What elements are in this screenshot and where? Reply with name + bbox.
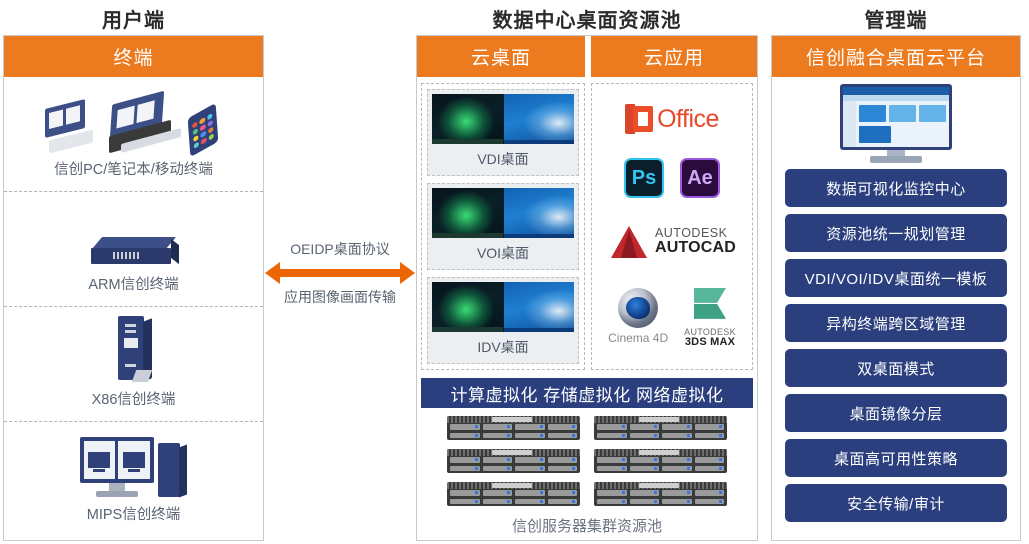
- management-panel: 信创融合桌面云平台 数据可视化监控中心 资源池统一规划管理 VDI/VOI/ID…: [771, 35, 1021, 541]
- mid-column-title: 数据中心桌面资源池: [416, 4, 758, 33]
- desktop-card-voi[interactable]: VOI桌面: [427, 183, 579, 270]
- desktop-card-label: IDV桌面: [432, 332, 574, 359]
- 3dsmax-icon[interactable]: AUTODESK 3DS MAX: [684, 285, 736, 349]
- desktop-card-label: VDI桌面: [432, 144, 574, 171]
- virtualization-banner: 计算虚拟化 存储虚拟化 网络虚拟化: [421, 378, 753, 408]
- app-row-office: Office: [625, 104, 719, 134]
- server-unit: [594, 416, 727, 440]
- terminal-label: 信创PC/笔记本/移动终端: [54, 158, 213, 179]
- desktop-thumbnail: [432, 282, 574, 332]
- tower-icon: [158, 443, 188, 499]
- desktop-thumbnail: [432, 188, 574, 238]
- server-unit: [594, 482, 727, 506]
- slim-tower-icon: [112, 314, 156, 384]
- mini-pc-icon: [91, 235, 177, 269]
- mgmt-button-4[interactable]: 双桌面模式: [785, 349, 1007, 387]
- cloud-desktop-list: VDI桌面 VOI桌面 IDV桌面: [421, 83, 585, 370]
- terminal-item-x86[interactable]: X86信创终端: [4, 307, 263, 422]
- cinema4d-label: Cinema 4D: [608, 331, 668, 345]
- cloud-app-header: 云应用: [591, 36, 757, 77]
- office-icon[interactable]: Office: [625, 104, 719, 134]
- desktop-thumbnail: [432, 94, 574, 144]
- office-label: Office: [657, 105, 719, 134]
- server-unit: [447, 482, 580, 506]
- terminal-panel-header: 终端: [4, 36, 263, 77]
- server-grid: [421, 416, 753, 506]
- desktop-icon: [41, 102, 97, 154]
- right-column-title: 管理端: [771, 4, 1021, 33]
- mgmt-button-0[interactable]: 数据可视化监控中心: [785, 169, 1007, 207]
- autocad-icon[interactable]: AUTODESK AUTOCAD: [608, 223, 736, 261]
- server-pool: 信创服务器集群资源池: [417, 408, 757, 536]
- mgmt-button-1[interactable]: 资源池统一规划管理: [785, 214, 1007, 252]
- x86-icon-group: [112, 320, 156, 384]
- mgmt-button-2[interactable]: VDI/VOI/IDV桌面统一模板: [785, 259, 1007, 297]
- terminal-item-arm[interactable]: ARM信创终端: [4, 192, 263, 307]
- monitor-icon: [80, 437, 154, 499]
- cloud-app-list: Office Ps Ae AUTODESK AUTOCAD: [591, 83, 753, 370]
- arm-icon-group: [91, 205, 177, 269]
- desktop-card-idv[interactable]: IDV桌面: [427, 277, 579, 364]
- laptop-icon: [103, 98, 179, 154]
- terminal-item-pc[interactable]: 信创PC/笔记本/移动终端: [4, 77, 263, 192]
- server-unit: [447, 449, 580, 473]
- protocol-bottom-label: 应用图像画面传输: [284, 287, 396, 307]
- protocol-top-label: OEIDP桌面协议: [290, 239, 390, 259]
- terminal-label: ARM信创终端: [88, 273, 178, 294]
- server-unit: [594, 449, 727, 473]
- mgmt-button-7[interactable]: 安全传输/审计: [785, 484, 1007, 522]
- server-pool-label: 信创服务器集群资源池: [421, 515, 753, 536]
- phone-icon: [185, 104, 227, 154]
- autocad-brand: AUTODESK: [655, 227, 736, 240]
- protocol-connector: OEIDP桌面协议 应用图像画面传输: [264, 225, 416, 320]
- terminal-label: MIPS信创终端: [87, 503, 180, 524]
- left-column-title: 用户端: [3, 4, 264, 33]
- app-row-autocad: AUTODESK AUTOCAD: [608, 223, 736, 261]
- mips-icon-group: [80, 435, 188, 499]
- 3dsmax-product: 3DS MAX: [684, 337, 736, 349]
- cloud-desktop-header: 云桌面: [417, 36, 585, 77]
- after-effects-icon[interactable]: Ae: [680, 158, 720, 198]
- photoshop-icon[interactable]: Ps: [624, 158, 664, 198]
- management-panel-header: 信创融合桌面云平台: [772, 36, 1020, 77]
- autocad-product: AUTOCAD: [655, 240, 736, 257]
- mgmt-button-5[interactable]: 桌面镜像分层: [785, 394, 1007, 432]
- dashboard-monitor-icon: [840, 84, 952, 164]
- mgmt-button-6[interactable]: 桌面高可用性策略: [785, 439, 1007, 477]
- double-arrow-icon: [265, 262, 415, 284]
- resource-pool-panel: 云桌面 云应用 VDI桌面 VOI桌面 IDV桌面 Office: [416, 35, 758, 541]
- app-row-3d: Cinema 4D AUTODESK 3DS MAX: [608, 285, 736, 349]
- app-row-adobe: Ps Ae: [624, 158, 720, 198]
- desktop-card-label: VOI桌面: [432, 238, 574, 265]
- terminal-item-mips[interactable]: MIPS信创终端: [4, 422, 263, 537]
- desktop-card-vdi[interactable]: VDI桌面: [427, 89, 579, 176]
- terminal-panel: 终端 信创PC/笔记本/移动终端: [3, 35, 264, 541]
- terminal-label: X86信创终端: [92, 388, 176, 409]
- mgmt-button-3[interactable]: 异构终端跨区域管理: [785, 304, 1007, 342]
- cinema4d-icon[interactable]: Cinema 4D: [608, 288, 668, 345]
- pc-icon-group: [41, 90, 227, 154]
- server-unit: [447, 416, 580, 440]
